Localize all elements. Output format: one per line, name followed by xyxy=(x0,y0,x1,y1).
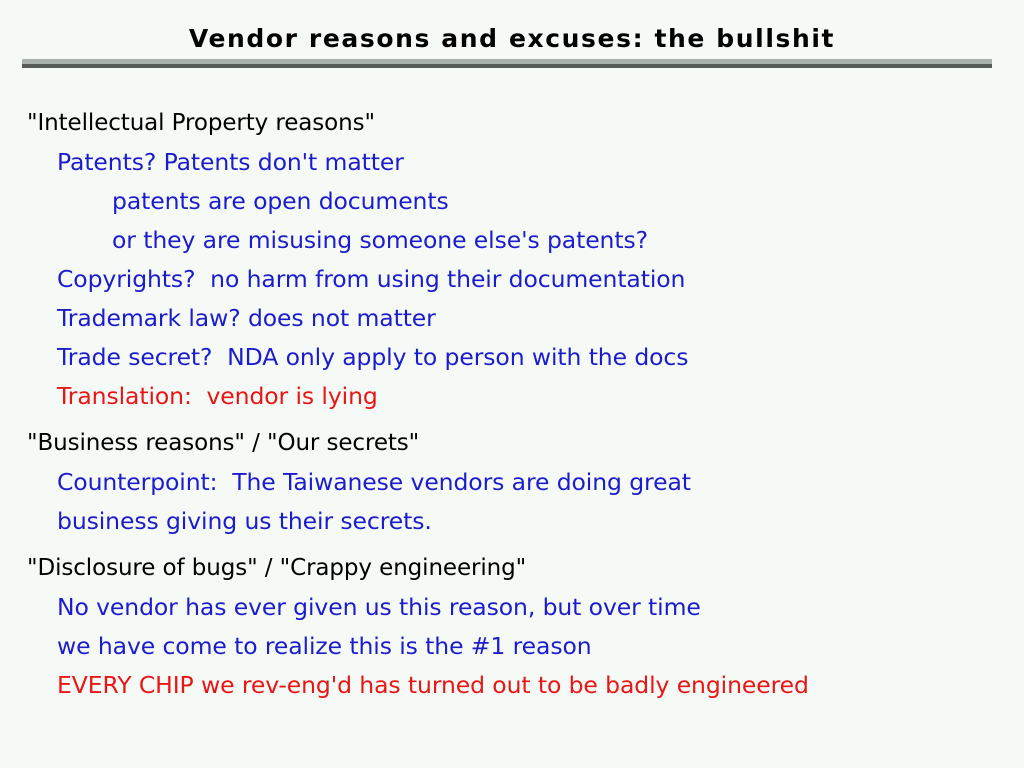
slide-body: "Intellectual Property reasons"Patents? … xyxy=(0,104,1024,705)
bullet-line: Copyrights? no harm from using their doc… xyxy=(0,260,1024,299)
emphasis-line: Translation: vendor is lying xyxy=(0,377,1024,416)
page-title: Vendor reasons and excuses: the bullshit xyxy=(189,24,835,54)
bullet-line: or they are misusing someone else's pate… xyxy=(0,221,1024,260)
content-group: "Business reasons" / "Our secrets"Counte… xyxy=(0,424,1024,541)
content-group: "Disclosure of bugs" / "Crappy engineeri… xyxy=(0,549,1024,705)
bullet-line: we have come to realize this is the #1 r… xyxy=(0,627,1024,666)
divider-shadow-band xyxy=(22,64,992,68)
title-divider xyxy=(22,59,992,68)
group-spacer xyxy=(0,541,1024,549)
bullet-line: No vendor has ever given us this reason,… xyxy=(0,588,1024,627)
content-group: "Intellectual Property reasons"Patents? … xyxy=(0,104,1024,416)
section-heading: "Disclosure of bugs" / "Crappy engineeri… xyxy=(0,549,1024,588)
group-spacer xyxy=(0,416,1024,424)
bullet-line: Trade secret? NDA only apply to person w… xyxy=(0,338,1024,377)
presentation-slide: Vendor reasons and excuses: the bullshit… xyxy=(0,0,1024,768)
slide-title-block: Vendor reasons and excuses: the bullshit xyxy=(0,24,1024,54)
bullet-line: Counterpoint: The Taiwanese vendors are … xyxy=(0,463,1024,502)
section-heading: "Intellectual Property reasons" xyxy=(0,104,1024,143)
section-heading: "Business reasons" / "Our secrets" xyxy=(0,424,1024,463)
bullet-line: Patents? Patents don't matter xyxy=(0,143,1024,182)
bullet-line: patents are open documents xyxy=(0,182,1024,221)
emphasis-line: EVERY CHIP we rev-eng'd has turned out t… xyxy=(0,666,1024,705)
bullet-line: Trademark law? does not matter xyxy=(0,299,1024,338)
bullet-line: business giving us their secrets. xyxy=(0,502,1024,541)
